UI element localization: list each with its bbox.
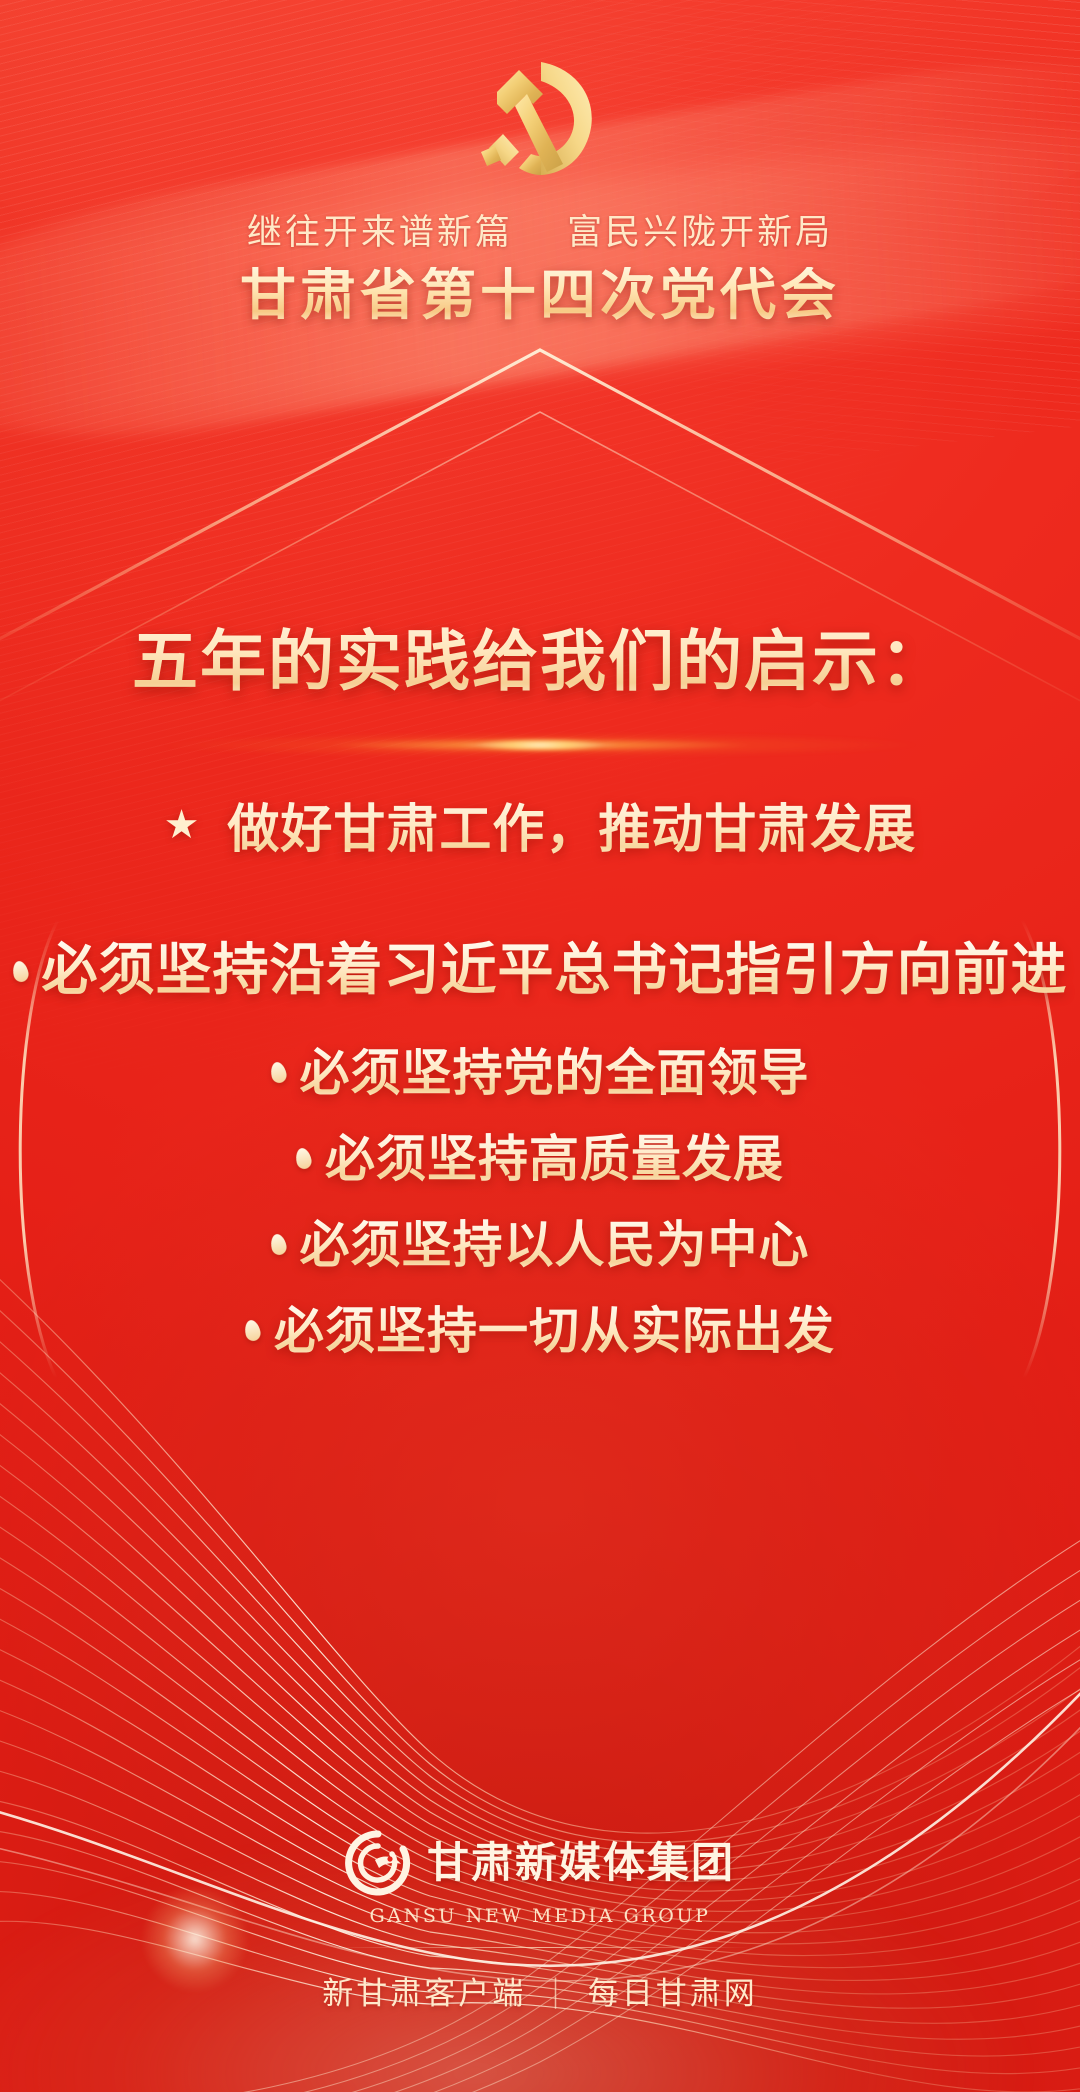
poster-main-title: 甘肃省第十四次党代会 — [0, 267, 1080, 326]
footer-links: 新甘肃客户端 | 每日甘肃网 — [0, 1968, 1080, 2013]
party-emblem-hammer-sickle-icon — [445, 48, 635, 198]
brand-row: 甘肃新媒体集团 — [0, 1830, 1080, 1896]
header-kicker-right: 富民兴陇开新局 — [567, 213, 833, 253]
section-heading: 五年的实践给我们的启示： — [0, 608, 1080, 704]
poster-root: 继往开来谱新篇 富民兴陇开新局 甘肃省第十四次党代会 五年的实践给我们的启示： … — [0, 0, 1080, 2092]
star-statement-text: 做好甘肃工作，推动甘肃发展 — [227, 787, 916, 862]
list-item: 必须坚持一切从实际出发 — [0, 1303, 1080, 1359]
gansu-new-media-group-logo-icon — [345, 1830, 411, 1896]
bullet-text: 必须坚持党的全面领导 — [300, 1045, 810, 1101]
footer-link-separator: | — [550, 1973, 563, 2009]
list-item: 必须坚持高质量发展 — [0, 1131, 1080, 1187]
header-kicker-left: 继往开来谱新篇 — [247, 213, 513, 253]
footer-divider — [330, 1947, 750, 1948]
droplet-bullet-icon — [243, 1319, 262, 1343]
light-flare-core-decoration — [475, 739, 605, 751]
bullet-text: 必须坚持沿着习近平总书记指引方向前进 — [42, 940, 1068, 1003]
bullet-text: 必须坚持以人民为中心 — [300, 1217, 810, 1273]
footer-link-meiri-gansu[interactable]: 每日甘肃网 — [588, 1968, 758, 2013]
header-kicker: 继往开来谱新篇 富民兴陇开新局 — [0, 216, 1080, 251]
star-statement-row: ★ 做好甘肃工作，推动甘肃发展 — [0, 787, 1080, 862]
footer-link-xingansu[interactable]: 新甘肃客户端 — [322, 1968, 526, 2013]
list-item: 必须坚持沿着习近平总书记指引方向前进 — [0, 940, 1080, 1003]
brand-name-cn: 甘肃新媒体集团 — [427, 1842, 735, 1884]
list-item: 必须坚持以人民为中心 — [0, 1217, 1080, 1273]
droplet-bullet-icon — [268, 1233, 287, 1257]
list-item: 必须坚持党的全面领导 — [0, 1045, 1080, 1101]
droplet-bullet-icon — [294, 1147, 313, 1171]
droplet-bullet-icon — [10, 960, 29, 984]
droplet-bullet-icon — [268, 1061, 287, 1085]
bullet-list: 必须坚持沿着习近平总书记指引方向前进 必须坚持党的全面领导 必须坚持高质量发展 … — [0, 940, 1080, 1389]
poster-footer: 甘肃新媒体集团 GANSU NEW MEDIA GROUP 新甘肃客户端 | 每… — [0, 1830, 1080, 2013]
bullet-text: 必须坚持高质量发展 — [325, 1131, 784, 1187]
star-icon: ★ — [164, 805, 200, 845]
poster-header: 继往开来谱新篇 富民兴陇开新局 甘肃省第十四次党代会 — [0, 0, 1080, 326]
bullet-text: 必须坚持一切从实际出发 — [274, 1303, 835, 1359]
brand-name-en: GANSU NEW MEDIA GROUP — [0, 1905, 1080, 1927]
